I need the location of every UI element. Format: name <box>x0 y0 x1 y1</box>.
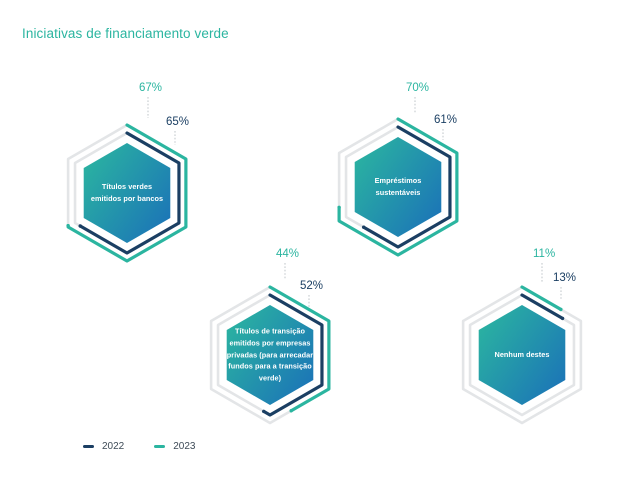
marker-dot-2023 <box>337 206 340 209</box>
legend-label: 2022 <box>102 441 124 452</box>
hex-progress-ring <box>323 112 473 262</box>
marker-dot-2022 <box>262 410 265 413</box>
hex-progress-ring <box>195 280 345 430</box>
hex-fill <box>355 137 442 237</box>
hex-fill <box>227 305 314 405</box>
legend-swatch-icon <box>83 445 94 448</box>
pct-label-2023: 67% <box>139 82 162 94</box>
hex-fill <box>84 143 171 243</box>
pct-label-2023: 11% <box>533 248 555 260</box>
legend: 2022 2023 <box>83 441 196 452</box>
hex-card-emprestimos-sustentaveis[interactable]: Empréstimossustentáveis <box>323 112 473 262</box>
hex-card-nenhum-destes[interactable]: Nenhum destes <box>447 280 597 430</box>
hex-fill <box>479 305 566 405</box>
marker-dot-2022 <box>79 224 82 227</box>
pct-label-2023: 44% <box>276 248 299 260</box>
pct-label-2022: 52% <box>300 280 323 292</box>
hex-card-titulos-transicao[interactable]: Títulos de transiçãoemitidos por empresa… <box>195 280 345 430</box>
legend-item-2022[interactable]: 2022 <box>83 441 124 452</box>
pct-label-2022: 13% <box>553 272 576 284</box>
marker-dot-2023 <box>559 308 562 311</box>
legend-item-2023[interactable]: 2023 <box>154 441 195 452</box>
hex-progress-ring <box>52 118 202 268</box>
pct-label-2022: 65% <box>166 116 189 128</box>
legend-swatch-icon <box>154 445 165 448</box>
marker-dot-2022 <box>362 226 365 229</box>
chart-canvas: Iniciativas de financiamento verde Títul… <box>0 0 625 483</box>
hex-progress-ring <box>447 280 597 430</box>
marker-dot-2023 <box>290 409 293 412</box>
legend-label: 2023 <box>173 441 195 452</box>
pct-label-2023: 70% <box>406 82 429 94</box>
hex-card-titulos-verdes[interactable]: Títulos verdesemitidos por bancos <box>52 118 202 268</box>
marker-dot-2022 <box>561 317 564 320</box>
page-title: Iniciativas de financiamento verde <box>22 26 229 41</box>
pct-label-2022: 61% <box>434 114 457 126</box>
marker-dot-2023 <box>66 224 69 227</box>
